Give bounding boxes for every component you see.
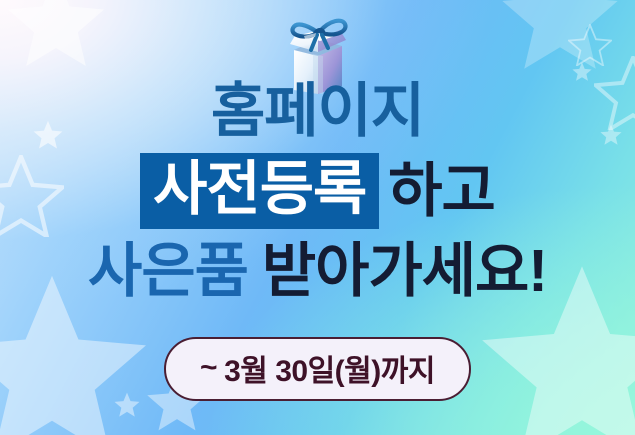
star-top-right-outline-small [569, 25, 611, 65]
star-top-right-filled [502, 0, 617, 69]
date-main: 3월 30일 [224, 346, 335, 390]
headline-line-2: 사전등록 하고 [0, 153, 635, 229]
star-top-left-filled [8, 0, 104, 66]
date-badge: ~ 3월 30일 (월)까지 [164, 337, 471, 401]
star-right-tiny-a [572, 62, 591, 80]
headline-line-1: 홈페이지 [0, 82, 635, 141]
date-pill-row: ~ 3월 30일 (월)까지 [0, 337, 635, 401]
headline-line-3: 사은품 받아가세요! [0, 242, 635, 301]
date-tilde: ~ [200, 351, 217, 385]
headline-line-2-tail: 하고 [388, 162, 495, 221]
headline-block: 홈페이지 사전등록 하고 사은품 받아가세요! [0, 82, 635, 301]
headline-gift-word: 사은품 [88, 242, 248, 301]
date-suffix: (월)까지 [335, 346, 435, 390]
promo-banner: 홈페이지 사전등록 하고 사은품 받아가세요! ~ 3월 30일 (월)까지 [0, 0, 635, 435]
highlight-pre-registration: 사전등록 [140, 153, 379, 229]
headline-line-3-tail: 받아가세요! [262, 242, 547, 301]
